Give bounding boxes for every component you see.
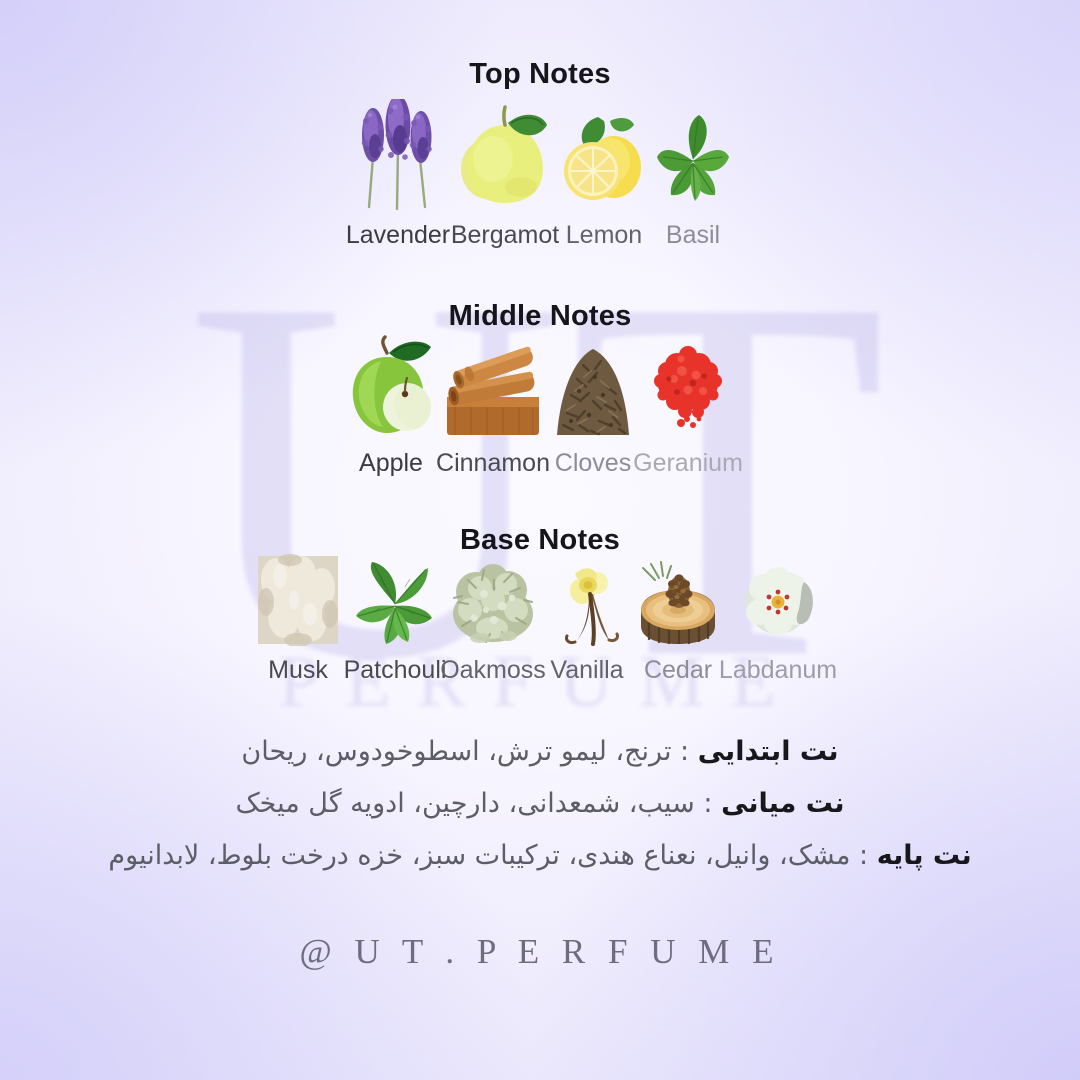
note-cinnamon[interactable]: Cinnamon (439, 335, 547, 476)
note-cedar[interactable]: Cedar (631, 554, 725, 683)
note-label: Geranium (633, 451, 743, 476)
top-notes-heading: Top Notes (0, 58, 1080, 91)
note-labdanum[interactable]: Labdanum (725, 554, 831, 683)
note-lavender[interactable]: Lavender (344, 99, 452, 248)
note-label: Lemon (566, 223, 642, 248)
persian-top-title: نت ابتدایی (698, 736, 839, 767)
note-label: Vanilla (550, 658, 623, 683)
base-notes-row: Musk (0, 575, 1080, 683)
note-geranium[interactable]: Geranium (639, 335, 737, 476)
green-apple-icon (343, 335, 439, 444)
persian-base-separator: : (850, 840, 876, 871)
dried-cloves-icon (549, 335, 637, 444)
cedar-wood-slice-icon (633, 554, 723, 651)
labdanum-flower-icon (736, 554, 820, 651)
note-basil[interactable]: Basil (650, 99, 736, 248)
persian-notes-block: نت ابتدایی : ترنج، لیمو ترش، اسطوخودوس، … (0, 726, 1080, 881)
bergamot-fruit-icon (455, 99, 555, 216)
note-label: Cedar (644, 658, 712, 683)
musk-texture-icon (254, 554, 342, 651)
persian-base-body: مشک، وانیل، نعناع هندی، ترکیبات سبز، خزه… (108, 840, 850, 871)
lavender-sprigs-icon (346, 99, 450, 216)
note-label: Cinnamon (436, 451, 550, 476)
persian-base-title: نت پایه (877, 840, 972, 871)
note-label: Musk (268, 658, 328, 683)
red-geranium-icon (641, 335, 735, 444)
note-label: Oakmoss (440, 658, 546, 683)
note-lemon[interactable]: Lemon (558, 99, 650, 248)
note-vanilla[interactable]: Vanilla (543, 554, 631, 683)
note-cloves[interactable]: Cloves (547, 335, 639, 476)
note-label: Basil (666, 223, 720, 248)
perfume-notes-card: UT PERFUME Top Notes (0, 0, 1080, 1080)
note-patchouli[interactable]: Patchouli (347, 554, 443, 683)
note-oakmoss[interactable]: Oakmoss (443, 554, 543, 683)
persian-middle-separator: : (695, 788, 721, 819)
persian-middle-title: نت میانی (721, 788, 844, 819)
patchouli-leaves-icon (350, 554, 440, 651)
vanilla-flower-pod-icon (545, 554, 629, 651)
section-top-notes: Top Notes (0, 58, 1080, 248)
note-label: Apple (359, 451, 423, 476)
persian-top-body: ترنج، لیمو ترش، اسطوخودوس، ریحان (241, 736, 671, 767)
lemon-fruit-icon (558, 99, 650, 216)
note-bergamot[interactable]: Bergamot (452, 99, 558, 248)
persian-line-top: نت ابتدایی : ترنج، لیمو ترش، اسطوخودوس، … (0, 726, 1080, 778)
note-label: Patchouli (344, 658, 447, 683)
note-label: Labdanum (719, 658, 837, 683)
section-middle-notes: Middle Notes (0, 300, 1080, 476)
persian-top-separator: : (671, 736, 697, 767)
persian-line-middle: نت میانی : سیب، شمعدانی، دارچین، ادویه گ… (0, 778, 1080, 830)
instagram-handle[interactable]: @ U T . P E R F U M E (0, 932, 1080, 972)
cinnamon-sticks-icon (441, 335, 545, 444)
note-musk[interactable]: Musk (249, 554, 347, 683)
basil-leaves-icon (651, 99, 735, 216)
section-base-notes: Base Notes (0, 524, 1080, 683)
note-apple[interactable]: Apple (343, 335, 439, 476)
persian-middle-body: سیب، شمعدانی، دارچین، ادویه گل میخک (235, 788, 694, 819)
middle-notes-row: Apple (0, 352, 1080, 476)
note-label: Bergamot (451, 223, 559, 248)
note-label: Cloves (555, 451, 631, 476)
middle-notes-heading: Middle Notes (0, 300, 1080, 333)
top-notes-row: Lavender Bergamot (0, 110, 1080, 248)
oakmoss-lichen-icon (446, 554, 540, 651)
persian-line-base: نت پایه : مشک، وانیل، نعناع هندی، ترکیبا… (0, 830, 1080, 882)
note-label: Lavender (346, 223, 450, 248)
base-notes-heading: Base Notes (0, 524, 1080, 557)
